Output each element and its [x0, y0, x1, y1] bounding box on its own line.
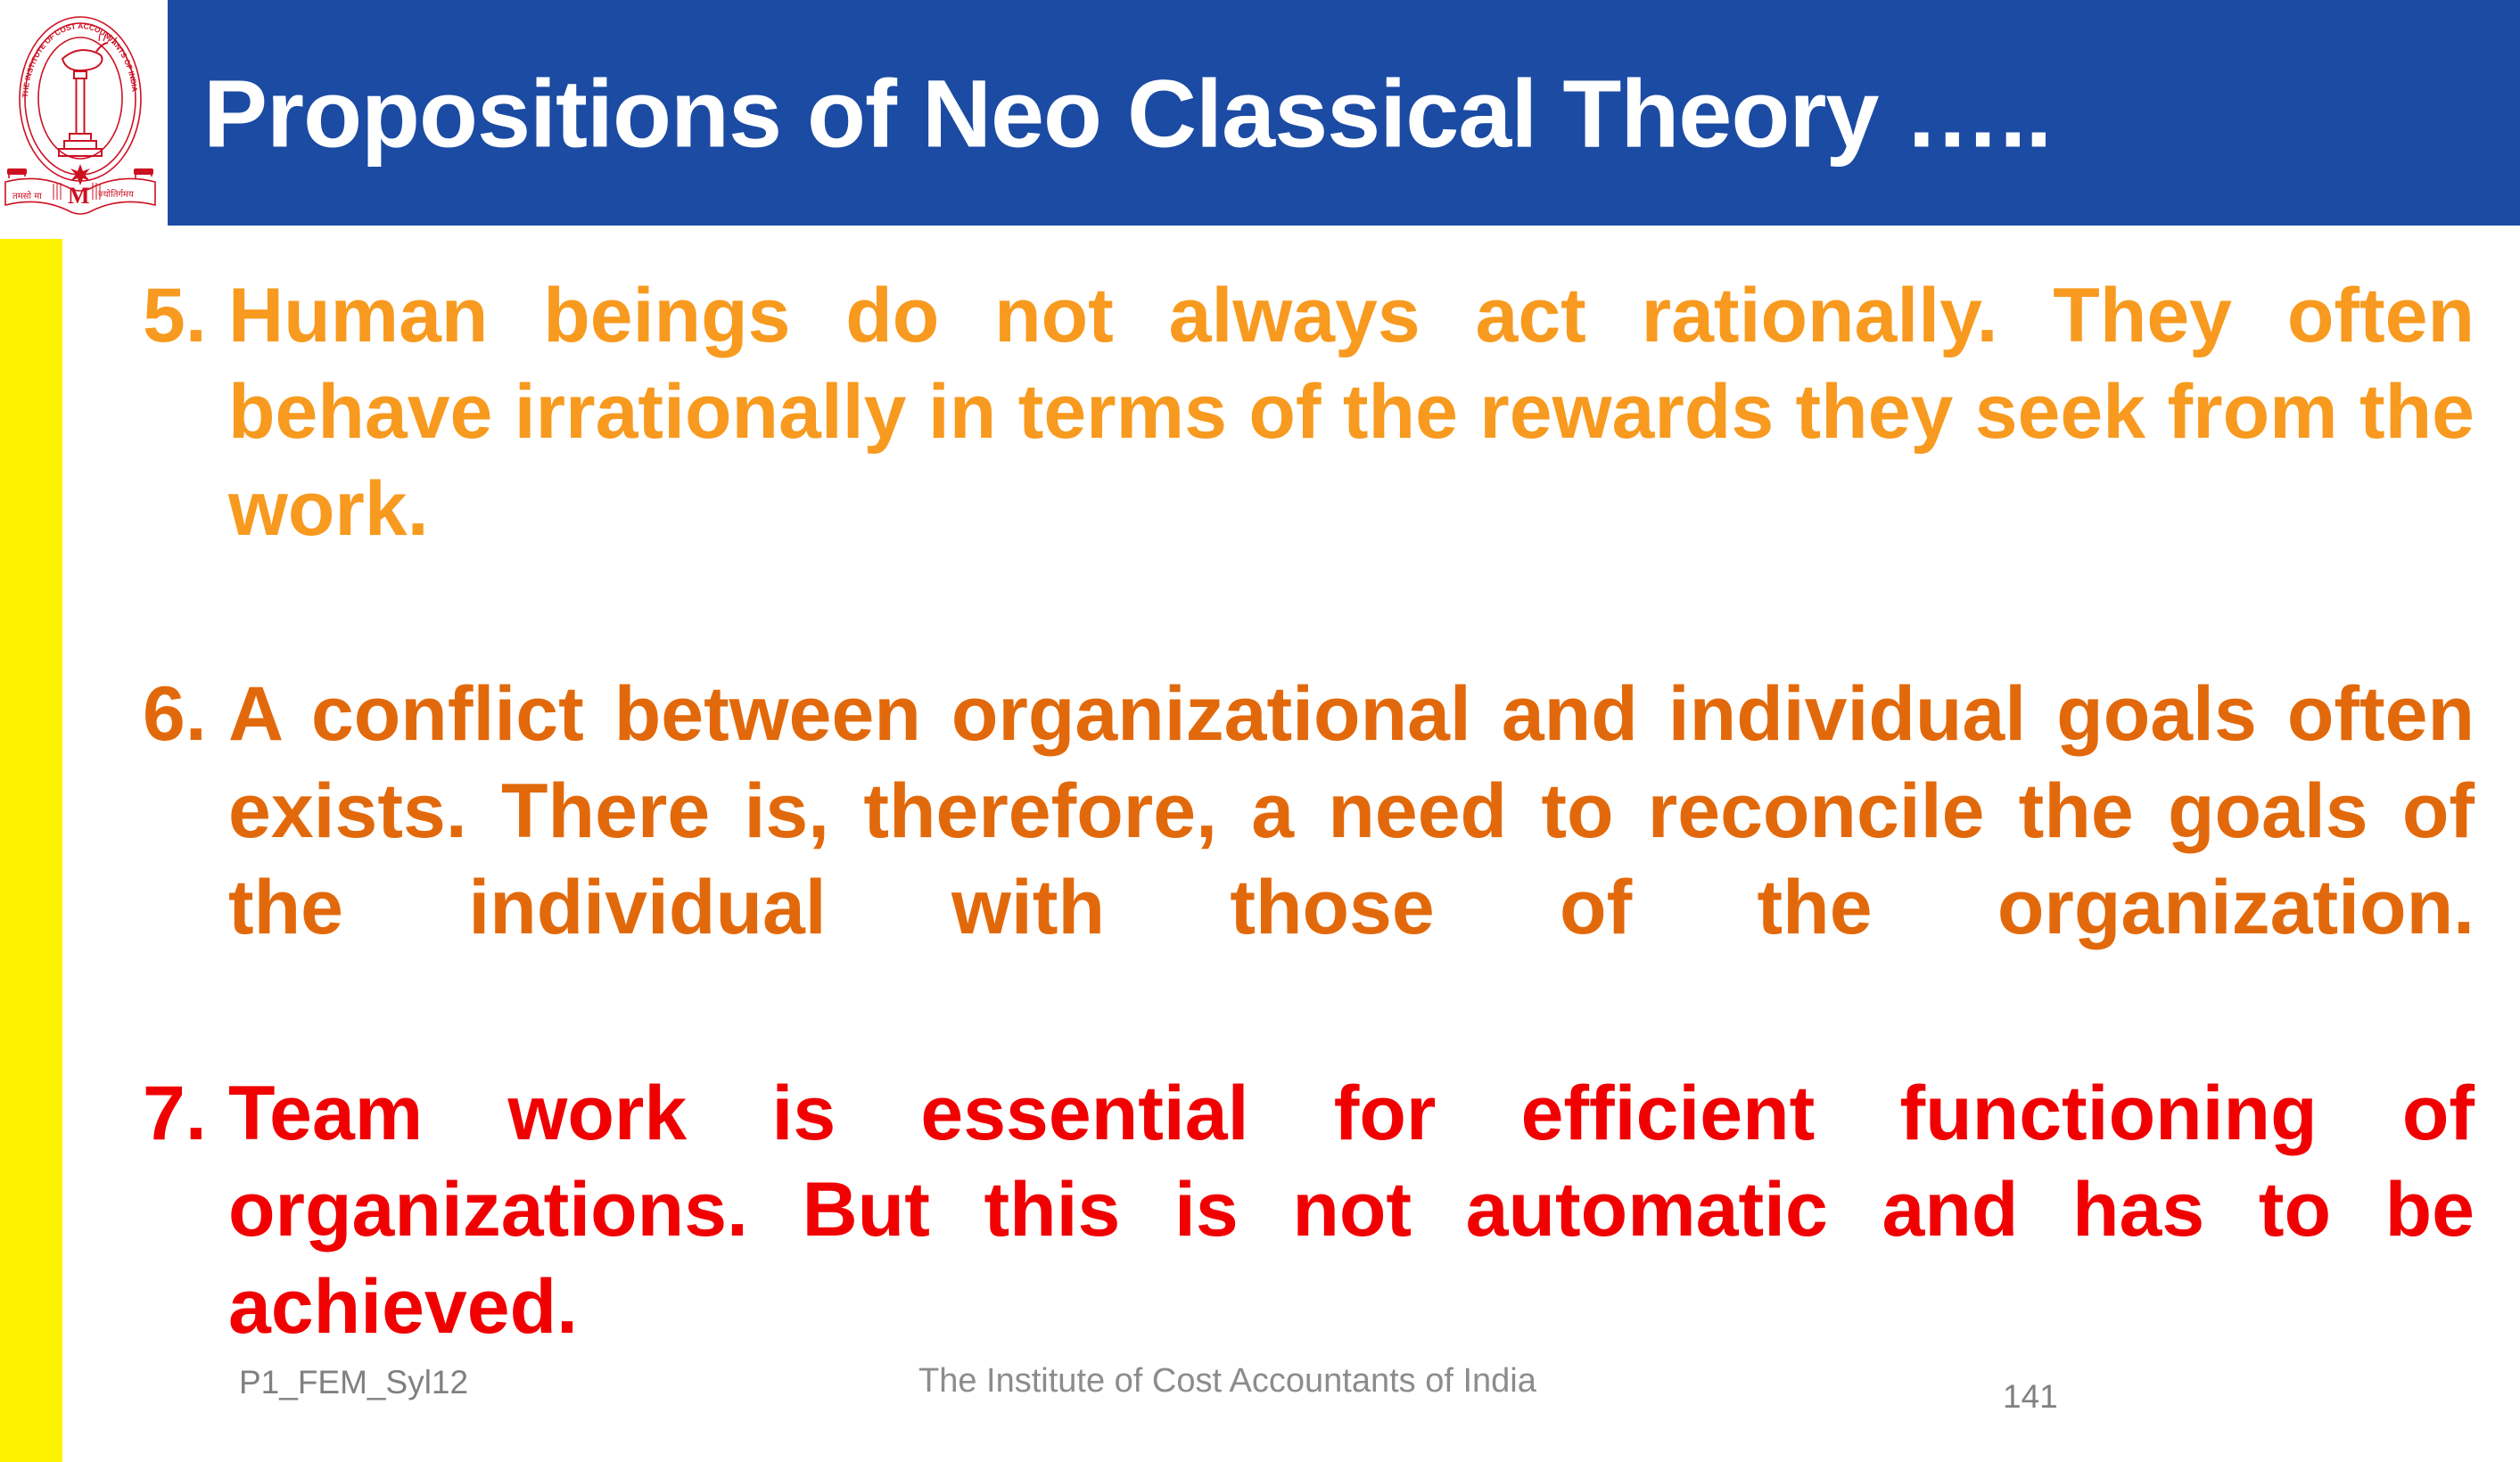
slide-body: 5. Human beings do not always act ration… — [143, 267, 2475, 1462]
svg-text:तमसो मा: तमसो मा — [12, 191, 42, 201]
footer-course-code: P1_FEM_Syl12 — [239, 1364, 468, 1401]
list-item: 6. A conflict between organizational and… — [143, 666, 2475, 1052]
list-item-text: Human beings do not always act rationall… — [228, 267, 2475, 653]
list-item-number: 6. — [143, 666, 228, 762]
footer-page-number: 141 — [2003, 1378, 2058, 1416]
institute-logo: THE INSTITUTE OF COST ACCOUNTANTS OF IND… — [0, 5, 161, 235]
list-item-text: A conflict between organizational and in… — [228, 666, 2475, 1052]
list-item: 5. Human beings do not always act ration… — [143, 267, 2475, 653]
svg-text:M: M — [68, 183, 90, 209]
slide-header-bar: Propositions of Neo Classical Theory ….. — [168, 0, 2520, 226]
footer-institute-name: The Institute of Cost Accountants of Ind… — [918, 1362, 1536, 1400]
svg-text:ज्योतिर्गमय: ज्योतिर्गमय — [98, 189, 134, 200]
list-item-number: 7. — [143, 1065, 228, 1162]
list-item-number: 5. — [143, 267, 228, 364]
yellow-accent-stripe — [0, 239, 62, 1462]
slide-title: Propositions of Neo Classical Theory ….. — [203, 57, 2051, 168]
presentation-slide: Propositions of Neo Classical Theory …..… — [0, 0, 2520, 1462]
